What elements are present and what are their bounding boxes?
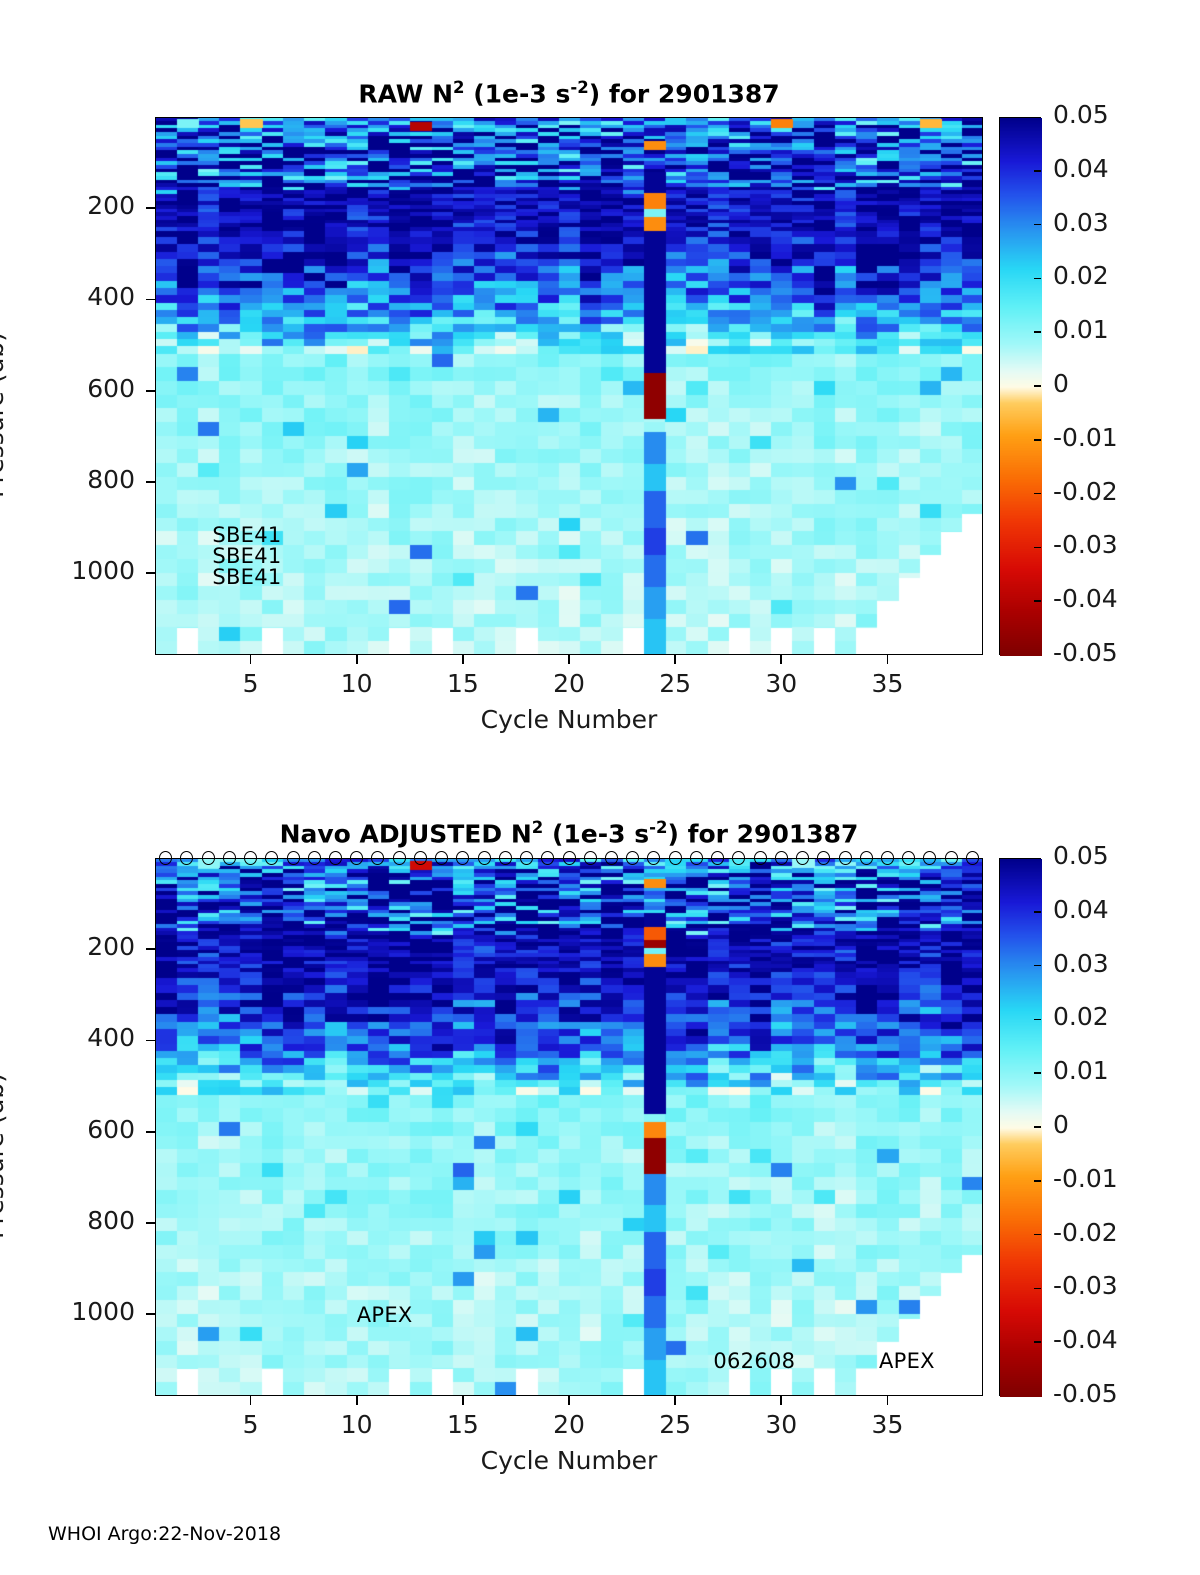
colorbar-tick-mark <box>1034 1180 1041 1182</box>
cycle-marker-circle-icon <box>923 851 936 865</box>
cycle-marker-circle-icon <box>520 851 533 865</box>
colorbar-tick-mark <box>1034 965 1041 967</box>
colorbar-tick-label: 0.03 <box>1053 949 1109 978</box>
colorbar-tick-label: 0.02 <box>1053 1002 1109 1031</box>
cycle-marker-circle-icon <box>669 851 682 865</box>
colorbar-tick-label: -0.04 <box>1053 1325 1118 1354</box>
cycle-marker-circle-icon <box>690 851 703 865</box>
colorbar-tick-label: -0.01 <box>1053 1164 1118 1193</box>
colorbar-tick-label: 0.04 <box>1053 895 1109 924</box>
cycle-marker-circle-icon <box>902 851 915 865</box>
colorbar-tick-label: 0.05 <box>1053 841 1109 870</box>
colorbar-tick-mark <box>1034 1126 1041 1128</box>
cycle-marker-circle-icon <box>626 851 639 865</box>
colorbar-tick-label: -0.02 <box>1053 1218 1118 1247</box>
cycle-marker-circle-icon <box>244 851 257 865</box>
cycle-marker-circle-icon <box>393 851 406 865</box>
cycle-marker-circle-icon <box>605 851 618 865</box>
colorbar-tick-mark <box>1034 1072 1041 1074</box>
cycle-marker-circle-icon <box>817 851 830 865</box>
colorbar-tick-mark <box>1034 911 1041 913</box>
cycle-marker-circle-icon <box>881 851 894 865</box>
colorbar-gradient-adjusted <box>1000 859 1042 1397</box>
cycle-marker-circle-icon <box>202 851 215 865</box>
cycle-marker-circle-icon <box>563 851 576 865</box>
colorbar-tick-label: 0.01 <box>1053 1056 1109 1085</box>
cycle-marker-circle-icon <box>329 851 342 865</box>
colorbar-tick-mark <box>1034 1341 1041 1343</box>
cycle-marker-circle-icon <box>308 851 321 865</box>
cycle-marker-circle-icon <box>647 851 660 865</box>
cycle-marker-circle-icon <box>478 851 491 865</box>
cycle-marker-circle-icon <box>839 851 852 865</box>
cycle-marker-circle-icon <box>159 851 172 865</box>
colorbar-tick-mark <box>1034 1234 1041 1236</box>
cycle-marker-circle-icon <box>860 851 873 865</box>
colorbar-tick-mark <box>1034 1019 1041 1021</box>
cycle-marker-circle-icon <box>435 851 448 865</box>
cycle-marker-circle-icon <box>775 851 788 865</box>
colorbar-tick-label: -0.03 <box>1053 1271 1118 1300</box>
cycle-marker-circle-icon <box>541 851 554 865</box>
cycle-marker-circle-icon <box>796 851 809 865</box>
colorbar-tick-label: 0 <box>1053 1110 1069 1139</box>
colorbar-tick-mark <box>1034 1288 1041 1290</box>
cycle-marker-circle-icon <box>180 851 193 865</box>
cycle-marker-circle-icon <box>966 851 979 865</box>
cycle-marker-circle-icon <box>371 851 384 865</box>
cycle-marker-circle-icon <box>499 851 512 865</box>
cycle-marker-circle-icon <box>711 851 724 865</box>
cycle-marker-circle-icon <box>754 851 767 865</box>
cycle-marker-circle-icon <box>223 851 236 865</box>
cycle-marker-circle-icon <box>945 851 958 865</box>
colorbar-tick-label: -0.05 <box>1053 1379 1118 1408</box>
cycle-marker-circle-icon <box>414 851 427 865</box>
cycle-marker-circle-icon <box>732 851 745 865</box>
cycle-marker-circle-icon <box>287 851 300 865</box>
cycle-marker-circle-icon <box>350 851 363 865</box>
cycle-marker-circle-icon <box>584 851 597 865</box>
cycle-marker-circle-icon <box>265 851 278 865</box>
cycle-marker-circle-icon <box>456 851 469 865</box>
figure-footer: WHOI Argo:22-Nov-2018 <box>48 1523 281 1545</box>
